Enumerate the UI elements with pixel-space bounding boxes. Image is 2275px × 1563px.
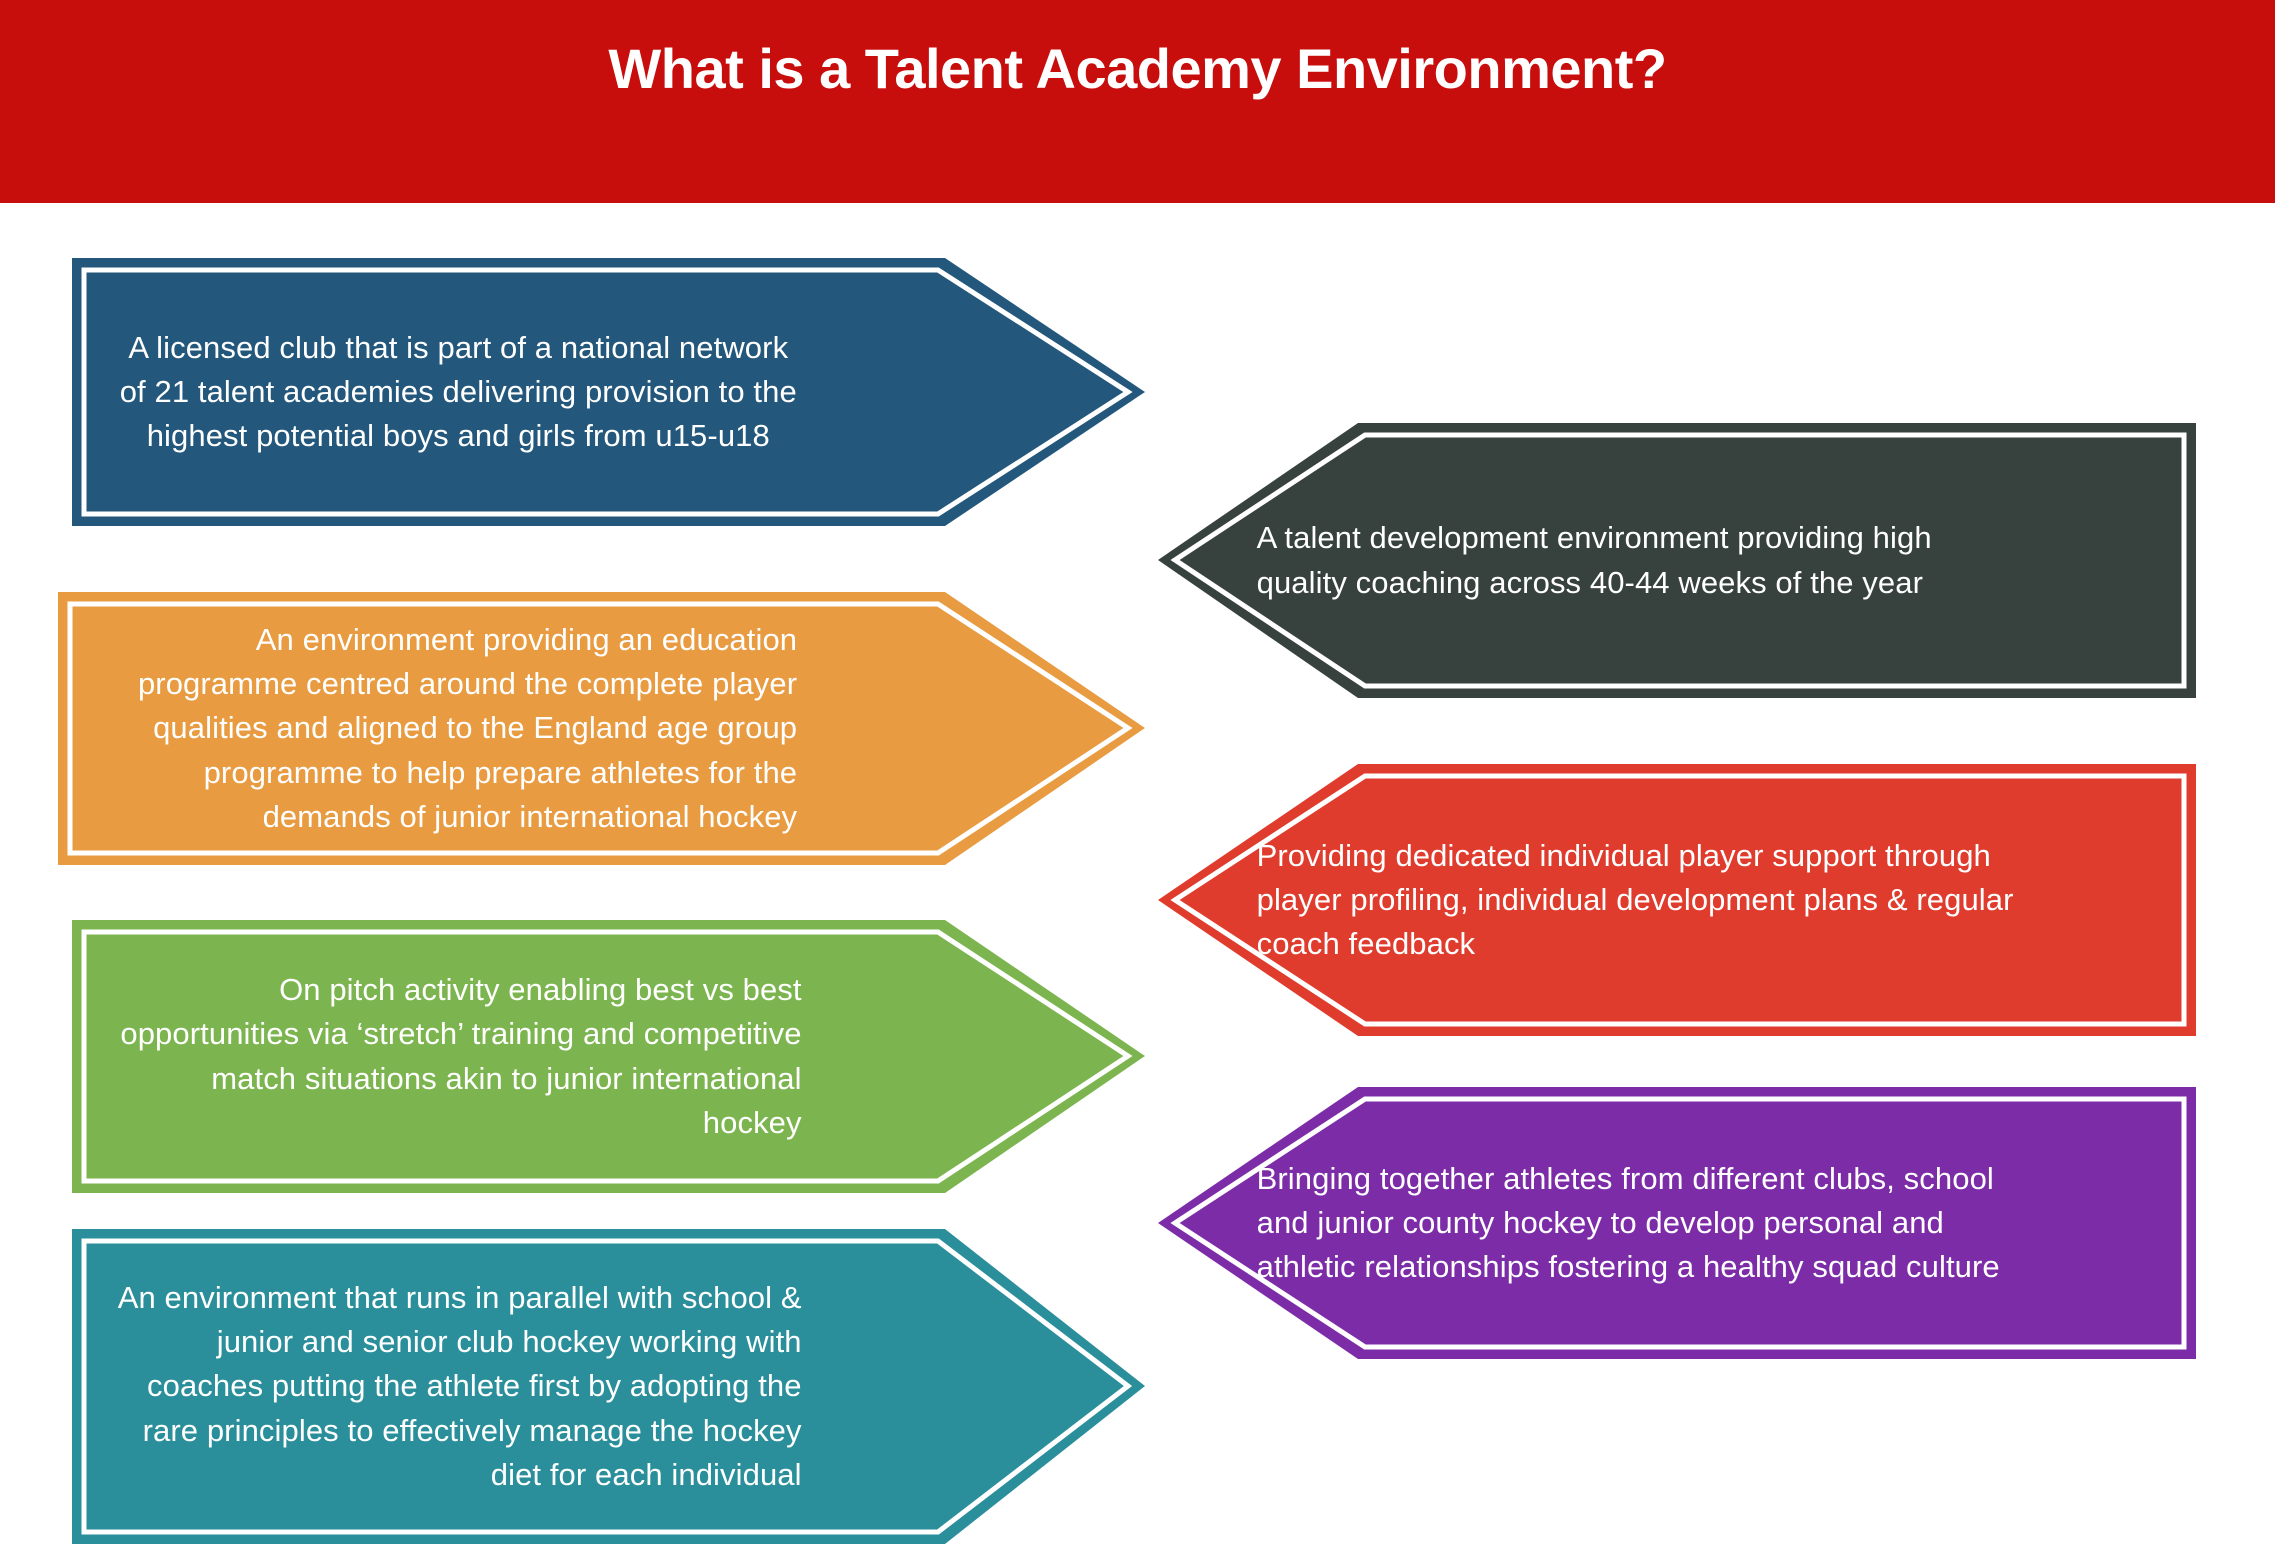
- callout-text: Bringing together athletes from differen…: [1257, 1157, 2025, 1290]
- header-band: What is a Talent Academy Environment?: [0, 0, 2275, 203]
- callout-on-pitch-activity: On pitch activity enabling best vs best …: [72, 920, 1145, 1193]
- slide-canvas: What is a Talent Academy Environment? A …: [0, 0, 2275, 1563]
- callout-text: On pitch activity enabling best vs best …: [115, 968, 802, 1145]
- callout-text: An environment that runs in parallel wit…: [115, 1276, 802, 1498]
- callout-squad-culture: Bringing together athletes from differen…: [1158, 1087, 2196, 1359]
- callout-text: Providing dedicated individual player su…: [1257, 834, 2025, 967]
- callout-text: A talent development environment providi…: [1257, 516, 2025, 605]
- page-title: What is a Talent Academy Environment?: [0, 38, 2275, 100]
- callout-individual-player-support: Providing dedicated individual player su…: [1158, 764, 2196, 1036]
- callout-education-programme: An environment providing an education pr…: [58, 592, 1145, 865]
- callout-licensed-club: A licensed club that is part of a nation…: [72, 258, 1145, 526]
- callout-parallel-environment: An environment that runs in parallel wit…: [72, 1229, 1145, 1544]
- callout-text: A licensed club that is part of a nation…: [115, 326, 802, 459]
- callout-talent-development-environment: A talent development environment providi…: [1158, 423, 2196, 698]
- callout-text: An environment providing an education pr…: [101, 618, 797, 840]
